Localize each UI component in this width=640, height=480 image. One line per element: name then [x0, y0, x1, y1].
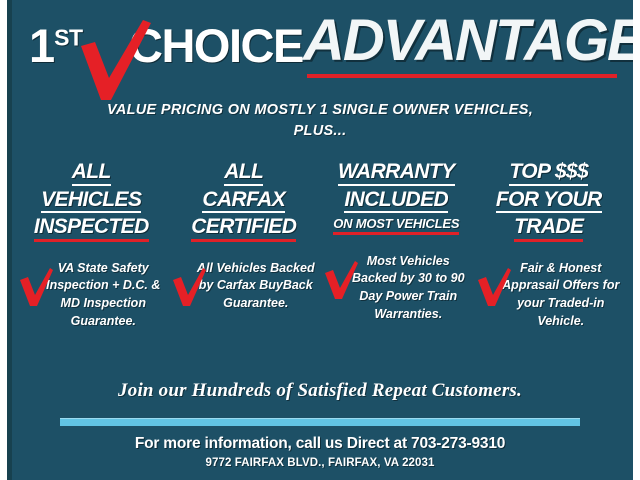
heading-line: ALL	[224, 160, 263, 186]
feature-description: Most Vehicles Backed by 30 to 90 Day Pow…	[346, 253, 471, 324]
brand-ordinal-suffix: ST	[54, 24, 82, 50]
heading-line: TRADE	[514, 215, 583, 242]
tagline: Join our Hundreds of Satisfied Repeat Cu…	[7, 380, 633, 402]
heading-line: CARFAX	[202, 188, 285, 214]
feature-column-inspected: ALL VEHICLES INSPECTED VA State Safety I…	[15, 160, 168, 360]
brand-advantage-word: ADVANTAGE!	[303, 12, 640, 70]
heading-line: CERTIFIED	[191, 215, 296, 242]
banner-header: 1ST CHOICE ADVANTAGE!	[7, 0, 633, 96]
feature-body: All Vehicles Backed by Carfax BuyBack Gu…	[170, 260, 319, 360]
feature-column-carfax: ALL CARFAX CERTIFIED All Vehicles Backed…	[168, 160, 321, 360]
feature-body: Fair & Honest Apprasail Offers for your …	[475, 260, 624, 360]
subtitle-block: VALUE PRICING ON MOSTLY 1 SINGLE OWNER V…	[60, 100, 580, 142]
red-check-icon	[477, 268, 511, 306]
heading-subline: ON MOST VEHICLES	[333, 217, 459, 235]
heading-line: WARRANTY	[338, 160, 455, 186]
heading-line: INCLUDED	[344, 188, 448, 214]
feature-heading: TOP $$$ FOR YOUR TRADE	[475, 160, 624, 244]
feature-description: All Vehicles Backed by Carfax BuyBack Gu…	[194, 260, 319, 313]
feature-heading: ALL VEHICLES INSPECTED	[17, 160, 166, 244]
footer-divider	[60, 418, 580, 426]
contact-phone-line: For more information, call us Direct at …	[7, 435, 633, 453]
heading-line: INSPECTED	[34, 215, 149, 242]
feature-description: Fair & Honest Apprasail Offers for your …	[499, 260, 624, 331]
red-check-icon	[324, 261, 358, 299]
dealer-address-line: 9772 FAIRFAX BLVD., FAIRFAX, VA 22031	[7, 457, 633, 469]
brand-number: 1	[29, 19, 54, 72]
subtitle-line-2: PLUS...	[60, 121, 580, 142]
advertisement-banner: 1ST CHOICE ADVANTAGE! VALUE PRICING ON M…	[0, 0, 640, 480]
feature-body: VA State Safety Inspection + D.C. & MD I…	[17, 260, 166, 360]
brand-choice-word: CHOICE	[129, 22, 303, 69]
heading-line: ALL	[72, 160, 111, 186]
banner-inner: 1ST CHOICE ADVANTAGE! VALUE PRICING ON M…	[7, 0, 633, 480]
heading-line: FOR YOUR	[496, 188, 602, 214]
feature-column-warranty: WARRANTY INCLUDED ON MOST VEHICLES Most …	[320, 160, 473, 360]
feature-description: VA State Safety Inspection + D.C. & MD I…	[41, 260, 166, 331]
feature-column-trade: TOP $$$ FOR YOUR TRADE Fair & Honest App…	[473, 160, 626, 360]
red-check-icon	[172, 268, 206, 306]
heading-line: TOP $$$	[509, 160, 588, 186]
red-check-icon	[19, 268, 53, 306]
subtitle-line-1: VALUE PRICING ON MOSTLY 1 SINGLE OWNER V…	[60, 100, 580, 121]
feature-heading: WARRANTY INCLUDED ON MOST VEHICLES	[322, 160, 471, 237]
feature-body: Most Vehicles Backed by 30 to 90 Day Pow…	[322, 253, 471, 353]
feature-columns: ALL VEHICLES INSPECTED VA State Safety I…	[7, 160, 633, 360]
brand-first-ordinal: 1ST	[29, 22, 83, 69]
heading-line: VEHICLES	[41, 188, 141, 214]
advantage-underline	[307, 74, 617, 78]
feature-heading: ALL CARFAX CERTIFIED	[170, 160, 319, 244]
